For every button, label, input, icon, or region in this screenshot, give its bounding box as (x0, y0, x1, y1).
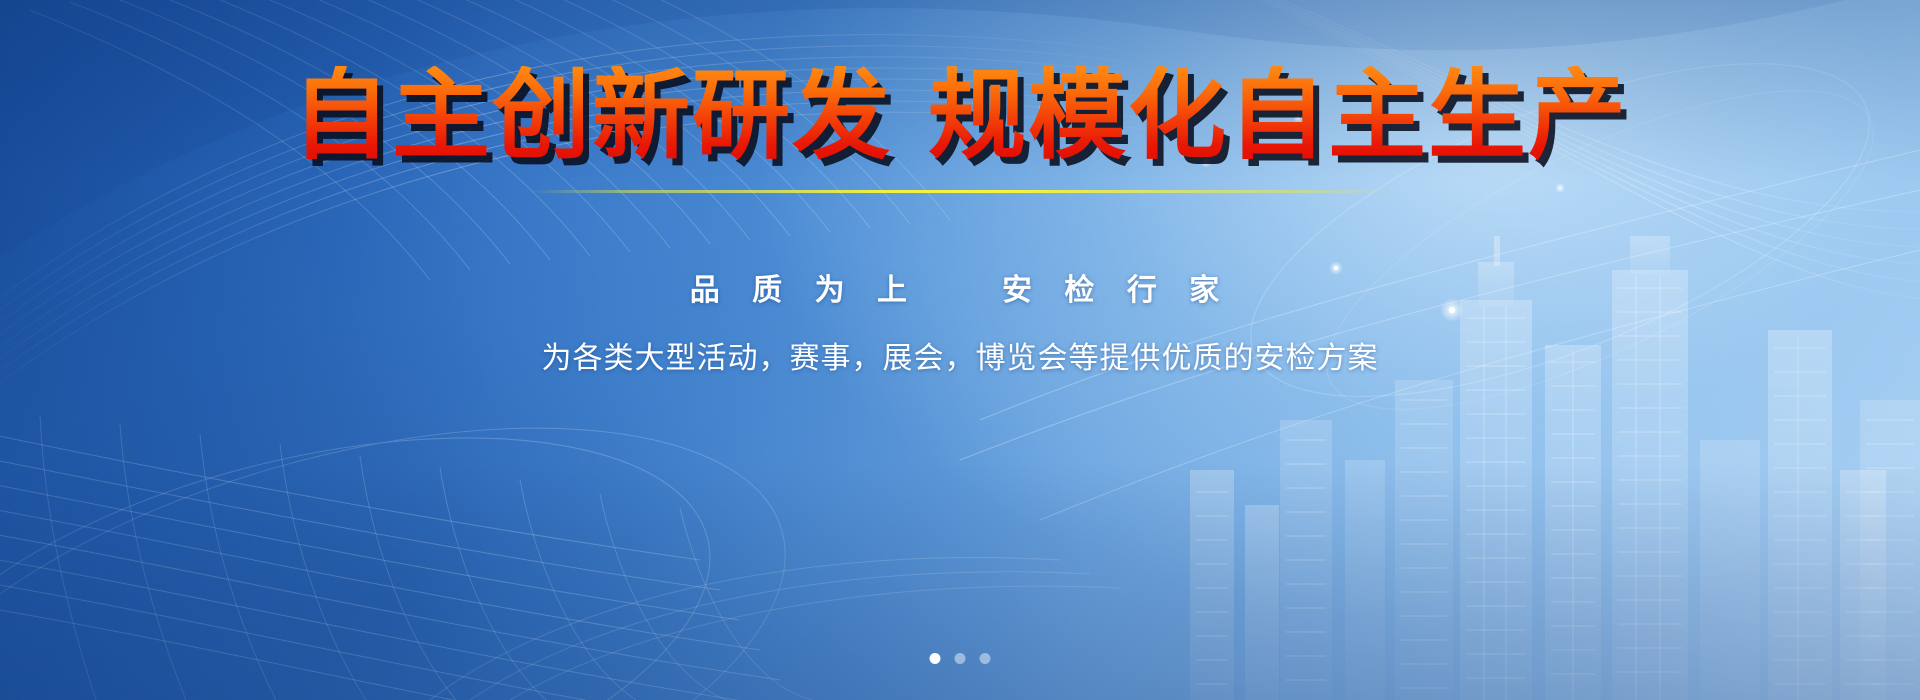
headline-divider (530, 190, 1390, 193)
hero-banner: 自主创新研发 规模化自主生产 品 质 为 上 安 检 行 家 为各类大型活动，赛… (0, 0, 1920, 700)
banner-headline: 自主创新研发 规模化自主生产 (292, 66, 1628, 168)
banner-content: 自主创新研发 规模化自主生产 品 质 为 上 安 检 行 家 为各类大型活动，赛… (0, 0, 1920, 700)
banner-subtitle-primary: 品 质 为 上 安 检 行 家 (690, 265, 1231, 309)
headline-divider-wrap (530, 190, 1390, 193)
banner-subtitle-secondary: 为各类大型活动，赛事，展会，博览会等提供优质的安检方案 (542, 333, 1379, 377)
